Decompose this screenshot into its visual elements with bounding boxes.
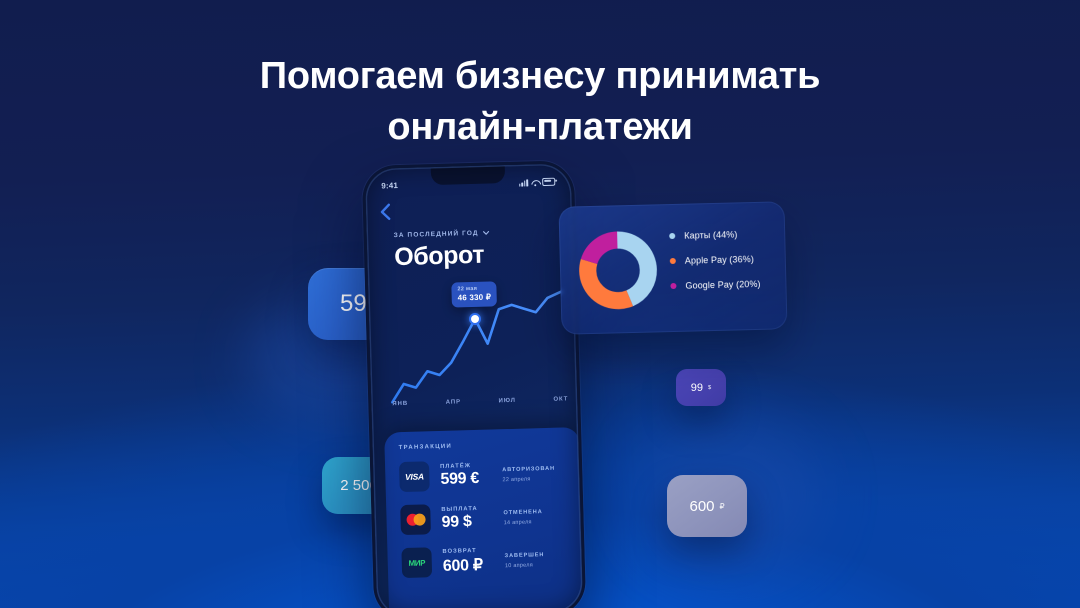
transaction-amount-group: ВЫПЛАТА 99 $ xyxy=(441,505,504,532)
transaction-amount-group: ВОЗВРАТ 600 ₽ xyxy=(442,547,505,576)
legend-swatch-cards xyxy=(669,233,675,239)
status-badge: ОТМЕНЕНА xyxy=(503,508,567,516)
signal-icon xyxy=(519,179,529,186)
headline-line-2: онлайн-платежи xyxy=(0,102,1080,152)
amount-card-600-currency: ₽ xyxy=(720,502,725,511)
amount-card-600: 600 ₽ xyxy=(667,475,747,537)
list-item: Карты (44%) xyxy=(669,229,759,241)
legend-label-apple-pay: Apple Pay (36%) xyxy=(685,254,754,266)
transaction-status-group: ЗАВЕРШЕН 10 апреля xyxy=(505,550,569,569)
page-title: Помогаем бизнесу принимать онлайн-платеж… xyxy=(0,51,1080,151)
table-row[interactable]: МИР ВОЗВРАТ 600 ₽ ЗАВЕРШЕН 10 апреля xyxy=(401,543,569,578)
amount-card-99-value: 99 xyxy=(691,382,703,394)
status-bar-time: 9:41 xyxy=(381,181,398,190)
table-row[interactable]: ВЫПЛАТА 99 $ ОТМЕНЕНА 14 апреля xyxy=(400,500,568,535)
chart-tooltip-date: 22 мая xyxy=(457,285,491,292)
legend-swatch-apple-pay xyxy=(670,258,676,264)
transaction-amount: 600 ₽ xyxy=(443,554,506,576)
amount-card-99: 99 $ xyxy=(676,369,726,406)
transactions-panel: ТРАНЗАКЦИИ VISA ПЛАТЁЖ 599 € АВТОРИЗОВАН… xyxy=(384,427,582,608)
list-item: Apple Pay (36%) xyxy=(670,254,760,266)
transaction-date: 14 апреля xyxy=(504,518,568,526)
x-axis-tick-0: ЯНВ xyxy=(392,401,408,407)
status-badge: ЗАВЕРШЕН xyxy=(505,551,569,559)
mir-logo-text: МИР xyxy=(408,558,425,567)
transaction-date: 22 апреля xyxy=(502,475,566,483)
x-axis-tick-3: ОКТ xyxy=(553,396,568,402)
screen-title: Оборот xyxy=(394,241,485,272)
amount-card-99-currency: $ xyxy=(708,385,711,391)
transaction-status-group: ОТМЕНЕНА 14 апреля xyxy=(503,507,567,526)
transactions-header: ТРАНЗАКЦИИ xyxy=(398,440,565,451)
legend-label-cards: Карты (44%) xyxy=(684,229,737,240)
phone-screen: 9:41 ЗА ПОСЛЕДНИЙ ГОД xyxy=(366,164,582,608)
mir-logo-icon: МИР xyxy=(401,547,432,578)
amount-card-600-value: 600 xyxy=(690,498,715,515)
transaction-amount: 99 $ xyxy=(441,512,503,532)
visa-logo-text: VISA xyxy=(405,471,424,482)
period-selector-label: ЗА ПОСЛЕДНИЙ ГОД xyxy=(394,230,479,239)
status-bar-icons xyxy=(519,176,556,186)
phone-mockup: 9:41 ЗА ПОСЛЕДНИЙ ГОД xyxy=(362,160,587,608)
legend-label-google-pay: Google Pay (20%) xyxy=(685,279,760,291)
headline-line-1: Помогаем бизнесу принимать xyxy=(260,55,821,97)
chevron-down-icon xyxy=(483,231,490,236)
wifi-icon xyxy=(531,180,539,186)
legend-swatch-google-pay xyxy=(670,283,676,289)
status-badge: АВТОРИЗОВАН xyxy=(502,465,566,473)
x-axis-tick-1: АПР xyxy=(446,399,461,405)
mastercard-logo-icon xyxy=(400,504,431,535)
table-row[interactable]: VISA ПЛАТЁЖ 599 € АВТОРИЗОВАН 22 апреля xyxy=(399,457,567,492)
period-selector[interactable]: ЗА ПОСЛЕДНИЙ ГОД xyxy=(394,230,490,240)
battery-icon xyxy=(542,177,555,185)
payment-methods-donut-chart xyxy=(577,229,659,311)
chevron-left-icon[interactable] xyxy=(380,203,391,220)
transaction-amount-group: ПЛАТЁЖ 599 € xyxy=(440,462,503,489)
transaction-amount: 599 € xyxy=(440,469,502,489)
status-bar: 9:41 xyxy=(366,173,570,193)
x-axis-tick-2: ИЮЛ xyxy=(499,398,516,404)
list-item: Google Pay (20%) xyxy=(670,279,760,291)
transaction-status-group: АВТОРИЗОВАН 22 апреля xyxy=(502,464,566,483)
transaction-date: 10 апреля xyxy=(505,561,569,569)
chart-tooltip: 22 мая 46 330 ₽ xyxy=(451,281,497,307)
payment-methods-panel: Карты (44%) Apple Pay (36%) Google Pay (… xyxy=(558,201,787,334)
chart-tooltip-value: 46 330 ₽ xyxy=(458,292,492,302)
page-root: Помогаем бизнесу принимать онлайн-платеж… xyxy=(0,0,1080,608)
payment-methods-legend: Карты (44%) Apple Pay (36%) Google Pay (… xyxy=(669,229,761,306)
visa-logo-icon: VISA xyxy=(399,461,430,492)
